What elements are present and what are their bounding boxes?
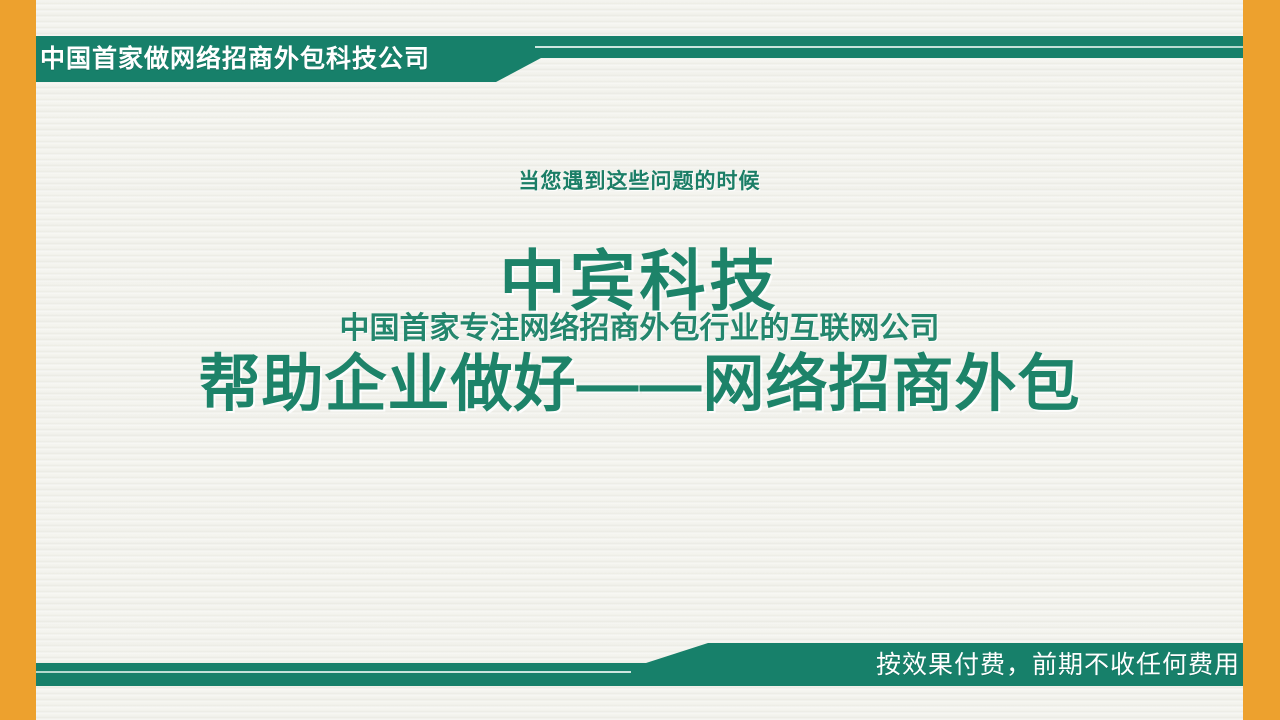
footer-hairline-rule [36, 671, 631, 673]
header-title: 中国首家做网络招商外包科技公司 [40, 40, 430, 78]
brand-name: 中宾科技 [36, 247, 1243, 316]
footer-title: 按效果付费，前期不收任何费用 [876, 648, 1240, 682]
eyebrow-text: 当您遇到这些问题的时候 [36, 165, 1243, 195]
presentation-slide: 中国首家做网络招商外包科技公司 当您遇到这些问题的时候 中宾科技 中国首家专注网… [0, 0, 1280, 720]
main-headline: 帮助企业做好——网络招商外包 [36, 351, 1243, 419]
header-hairline-rule [535, 46, 1243, 48]
company-tagline: 中国首家专注网络招商外包行业的互联网公司 [36, 312, 1243, 345]
slide-body: 当您遇到这些问题的时候 中宾科技 中国首家专注网络招商外包行业的互联网公司 帮助… [36, 120, 1243, 419]
